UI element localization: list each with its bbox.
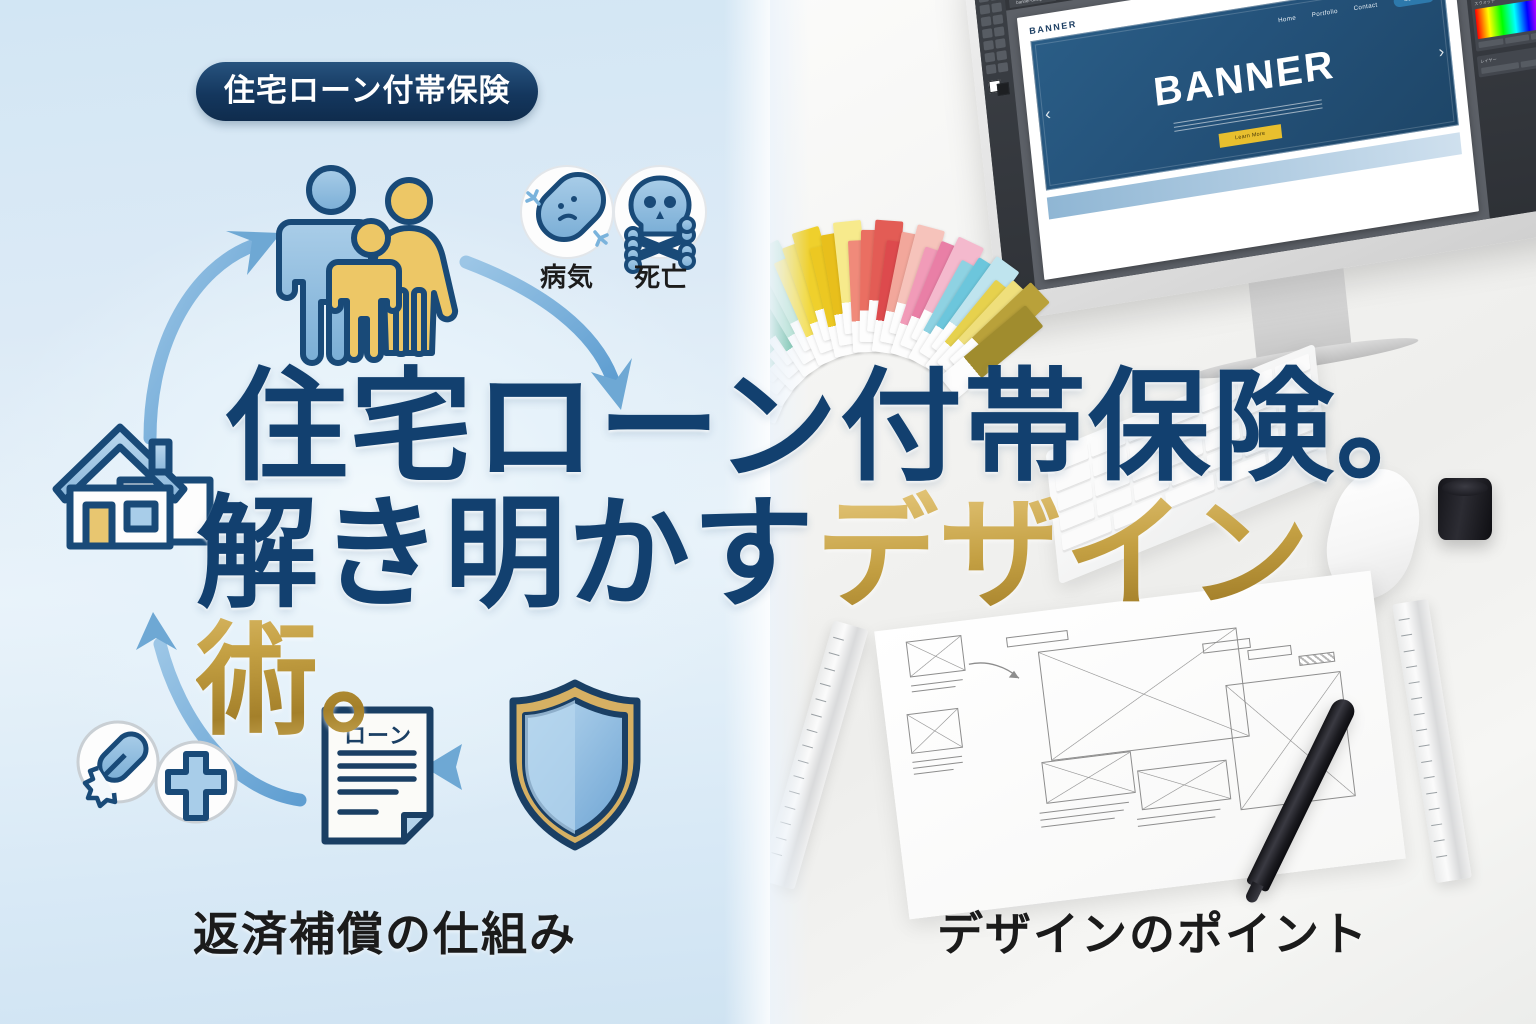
carousel-prev-icon[interactable]: ‹: [1044, 104, 1052, 125]
artboard[interactable]: BANNER Home Portfolio Contact Search ‹ ›: [1017, 0, 1479, 280]
risk-label-illness: 病気: [524, 257, 610, 294]
monitor: ファイル 編集 オブジェクト 書式 選択 効果 表示 ウィンドウ banner-…: [962, 0, 1536, 323]
footer-caption-right: デザインのポイント: [770, 898, 1536, 964]
scale-tool-icon[interactable]: [995, 38, 1006, 49]
selection-tool-icon[interactable]: [978, 0, 989, 3]
headline: 住宅ローン付帯保険。 解き明かすデザイン術。: [0, 366, 1536, 747]
wireframe-text-line: [913, 762, 963, 769]
risk-label-death: 死亡: [618, 257, 704, 294]
hero-nav[interactable]: Home Portfolio Contact Search: [1278, 0, 1435, 26]
direct-selection-tool-icon[interactable]: [990, 0, 1001, 1]
swatches-rainbow-strip[interactable]: [1475, 0, 1536, 39]
color-swatch-fan[interactable]: [798, 190, 1028, 380]
nav-item-portfolio[interactable]: Portfolio: [1311, 7, 1338, 18]
pen-tool-icon[interactable]: [979, 4, 990, 15]
headline-line-2: 解き明かすデザイン術。: [0, 493, 1536, 747]
carousel-next-icon[interactable]: ›: [1438, 42, 1446, 63]
monitor-screen: ファイル 編集 オブジェクト 書式 選択 効果 表示 ウィンドウ banner-…: [972, 0, 1536, 295]
fill-stroke-swatches[interactable]: [988, 78, 1009, 97]
poster-canvas: ファイル 編集 オブジェクト 書式 選択 効果 表示 ウィンドウ banner-…: [0, 0, 1536, 1024]
nav-item-home[interactable]: Home: [1278, 14, 1297, 24]
line-tool-icon[interactable]: [981, 16, 992, 27]
family-icon: [279, 168, 455, 363]
medical-cross-icon: [156, 742, 236, 822]
wireframe-image-box: [1137, 760, 1231, 811]
type-tool-icon[interactable]: [991, 2, 1002, 13]
cycle-arrow-shield-to-document: [424, 744, 502, 790]
eraser-tool-icon[interactable]: [994, 26, 1005, 37]
swatch-cell[interactable]: [1478, 38, 1503, 48]
footer-caption-left: 返済補償の仕組み: [0, 898, 770, 964]
headline-line-2-navy: 解き明かす: [196, 488, 816, 623]
brush-tool-icon[interactable]: [982, 28, 993, 39]
nav-item-contact[interactable]: Contact: [1353, 1, 1378, 12]
gradient-tool-icon[interactable]: [984, 52, 995, 63]
eyedropper-tool-icon[interactable]: [996, 50, 1007, 61]
color-swatch[interactable]: [770, 260, 809, 366]
headline-line-1: 住宅ローン付帯保険。: [0, 366, 1536, 493]
app-canvas[interactable]: BANNER Home Portfolio Contact Search ‹ ›: [1006, 0, 1490, 291]
hero-cta-button[interactable]: Learn More: [1219, 124, 1282, 148]
swatch-cell[interactable]: [1505, 34, 1530, 44]
wireframe-text-line: [914, 769, 954, 775]
stroke-swatch[interactable]: [997, 82, 1010, 96]
virus-icon: [521, 166, 613, 258]
monitor-bezel: ファイル 編集 オブジェクト 書式 選択 効果 表示 ウィンドウ banner-…: [962, 0, 1536, 323]
zoom-tool-icon[interactable]: [998, 62, 1009, 73]
rotate-tool-icon[interactable]: [983, 40, 994, 51]
search-button[interactable]: Search: [1393, 0, 1435, 8]
rectangle-tool-icon[interactable]: [993, 14, 1004, 25]
swatch-cell[interactable]: [1531, 30, 1536, 40]
hand-tool-icon[interactable]: [986, 64, 997, 75]
swatches-panel[interactable]: スウォッチ: [1471, 0, 1536, 52]
wireframe-text-line: [1040, 802, 1129, 814]
